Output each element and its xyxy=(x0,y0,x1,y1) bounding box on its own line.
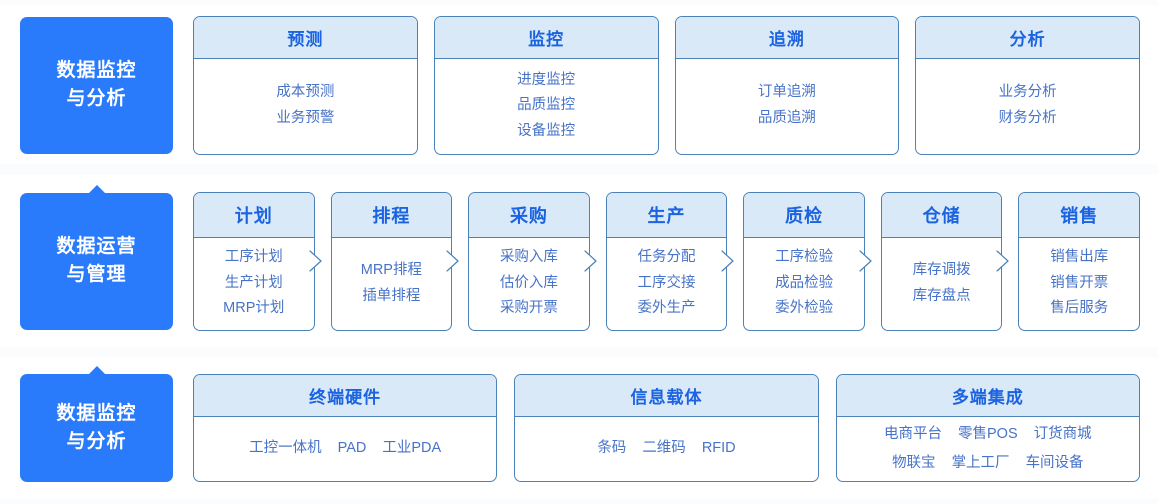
card-wrapper: 生产任务分配工序交接委外生产 xyxy=(606,175,728,347)
band-label-line1: 数据监控 xyxy=(56,400,136,428)
card-wrapper: 采购采购入库估价入库采购开票 xyxy=(468,175,590,347)
module-item[interactable]: 工序计划 xyxy=(225,248,283,268)
module-card-body: 库存调拨库存盘点 xyxy=(882,238,1002,330)
module-card-body: 条码二维码RFID xyxy=(515,417,817,481)
module-card-title: 分析 xyxy=(916,17,1139,59)
notch-triangle-icon xyxy=(88,185,106,194)
module-item-row: MRP计划 xyxy=(223,299,284,319)
band-label-line1: 数据监控 xyxy=(56,57,136,85)
module-item-row: 成品检验 xyxy=(775,274,833,294)
module-item[interactable]: 工控一体机 xyxy=(249,439,322,459)
module-item-row: 估价入库 xyxy=(500,274,558,294)
module-card-title: 采购 xyxy=(469,193,589,238)
module-card[interactable]: 质检工序检验成品检验委外检验 xyxy=(743,192,865,331)
band-label-line1: 数据运营 xyxy=(56,233,136,261)
band-label-line2: 与管理 xyxy=(66,261,126,289)
module-card-title: 多端集成 xyxy=(837,375,1139,417)
module-item[interactable]: 工业PDA xyxy=(382,439,441,459)
module-item-row: 物联宝掌上工厂车间设备 xyxy=(892,454,1084,474)
module-card-title: 预测 xyxy=(194,17,417,59)
band-cards-2: 计划工序计划生产计划MRP计划排程MRP排程插单排程采购采购入库估价入库采购开票… xyxy=(173,175,1158,347)
module-item-row: 品质监控 xyxy=(517,96,575,116)
band-label-line2: 与分析 xyxy=(66,85,126,113)
module-item-row: 品质追溯 xyxy=(758,109,816,129)
module-card[interactable]: 信息载体条码二维码RFID xyxy=(514,374,818,482)
card-wrapper: 排程MRP排程插单排程 xyxy=(331,175,453,347)
band-label-line2: 与分析 xyxy=(66,428,126,456)
notch-triangle-icon xyxy=(88,366,106,375)
card-wrapper: 终端硬件工控一体机PAD工业PDA xyxy=(193,358,497,498)
module-item[interactable]: 电商平台 xyxy=(884,425,942,445)
module-item[interactable]: 设备监控 xyxy=(517,122,575,142)
module-item-row: 任务分配 xyxy=(638,248,696,268)
module-item-row: 采购开票 xyxy=(500,299,558,319)
card-wrapper: 计划工序计划生产计划MRP计划 xyxy=(193,175,315,347)
module-item-row: 库存盘点 xyxy=(913,287,971,307)
module-item-row: 订单追溯 xyxy=(758,83,816,103)
module-card-body: 成本预测业务预警 xyxy=(194,59,417,154)
band-cards-1: 预测成本预测业务预警监控进度监控品质监控设备监控追溯订单追溯品质追溯分析业务分析… xyxy=(173,6,1158,164)
module-card-body: 工序计划生产计划MRP计划 xyxy=(194,238,314,330)
module-card[interactable]: 多端集成电商平台零售POS订货商城物联宝掌上工厂车间设备 xyxy=(836,374,1140,482)
module-item-row: 电商平台零售POS订货商城 xyxy=(884,425,1092,445)
module-card-title: 排程 xyxy=(332,193,452,238)
module-item[interactable]: 工序交接 xyxy=(638,274,696,294)
card-wrapper: 仓储库存调拨库存盘点 xyxy=(881,175,1003,347)
module-item[interactable]: 售后服务 xyxy=(1050,299,1108,319)
module-item-row: 委外生产 xyxy=(638,299,696,319)
module-item[interactable]: 估价入库 xyxy=(500,274,558,294)
band-analysis-top: 数据监控与分析预测成本预测业务预警监控进度监控品质监控设备监控追溯订单追溯品质追… xyxy=(0,6,1158,164)
module-card-body: 采购入库估价入库采购开票 xyxy=(469,238,589,330)
module-item[interactable]: 销售出库 xyxy=(1050,248,1108,268)
module-item-row: 工控一体机PAD工业PDA xyxy=(249,439,441,459)
module-item[interactable]: 委外生产 xyxy=(638,299,696,319)
module-card-title: 信息载体 xyxy=(515,375,817,417)
module-card[interactable]: 仓储库存调拨库存盘点 xyxy=(881,192,1003,331)
module-item[interactable]: 零售POS xyxy=(958,425,1018,445)
module-item-row: 财务分析 xyxy=(999,109,1057,129)
module-card-body: 任务分配工序交接委外生产 xyxy=(607,238,727,330)
module-item-row: 委外检验 xyxy=(775,299,833,319)
card-wrapper: 多端集成电商平台零售POS订货商城物联宝掌上工厂车间设备 xyxy=(836,358,1140,498)
module-item-row: 工序计划 xyxy=(225,248,283,268)
module-card[interactable]: 监控进度监控品质监控设备监控 xyxy=(434,16,659,155)
module-card-title: 监控 xyxy=(435,17,658,59)
card-wrapper: 分析业务分析财务分析 xyxy=(915,6,1140,164)
module-item[interactable]: 成品检验 xyxy=(775,274,833,294)
module-item[interactable]: 插单排程 xyxy=(362,287,420,307)
card-wrapper: 预测成本预测业务预警 xyxy=(193,6,418,164)
module-card-title: 终端硬件 xyxy=(194,375,496,417)
module-item-row: MRP排程 xyxy=(361,261,422,281)
module-card-body: 业务分析财务分析 xyxy=(916,59,1139,154)
module-item[interactable]: 任务分配 xyxy=(638,248,696,268)
module-item[interactable]: 业务预警 xyxy=(276,109,334,129)
module-item-row: 进度监控 xyxy=(517,71,575,91)
module-item[interactable]: 生产计划 xyxy=(225,274,283,294)
band-analysis-bottom: 数据监控与分析终端硬件工控一体机PAD工业PDA信息载体条码二维码RFID多端集… xyxy=(0,358,1158,498)
band-label-block-2[interactable]: 数据运营与管理 xyxy=(20,193,173,330)
module-item-row: 售后服务 xyxy=(1050,299,1108,319)
module-card[interactable]: 生产任务分配工序交接委外生产 xyxy=(606,192,728,331)
module-item-row: 业务预警 xyxy=(276,109,334,129)
module-card-title: 计划 xyxy=(194,193,314,238)
module-item-row: 销售出库 xyxy=(1050,248,1108,268)
module-item[interactable]: 条码 xyxy=(597,439,626,459)
module-item[interactable]: 二维码 xyxy=(642,439,686,459)
card-wrapper: 质检工序检验成品检验委外检验 xyxy=(743,175,865,347)
module-item-row: 工序检验 xyxy=(775,248,833,268)
module-card-title: 生产 xyxy=(607,193,727,238)
module-card[interactable]: 追溯订单追溯品质追溯 xyxy=(675,16,900,155)
module-item[interactable]: 订货商城 xyxy=(1034,425,1092,445)
module-item[interactable]: 财务分析 xyxy=(999,109,1057,129)
module-card-title: 追溯 xyxy=(676,17,899,59)
module-item-row: 成本预测 xyxy=(276,83,334,103)
band-operations: 数据运营与管理计划工序计划生产计划MRP计划排程MRP排程插单排程采购采购入库估… xyxy=(0,175,1158,347)
module-item-row: 工序交接 xyxy=(638,274,696,294)
module-item-row: 条码二维码RFID xyxy=(597,439,735,459)
band-cards-3: 终端硬件工控一体机PAD工业PDA信息载体条码二维码RFID多端集成电商平台零售… xyxy=(173,358,1158,498)
module-item[interactable]: 工序检验 xyxy=(775,248,833,268)
module-card-body: 工控一体机PAD工业PDA xyxy=(194,417,496,481)
module-item[interactable]: 采购开票 xyxy=(500,299,558,319)
band-label-block-1[interactable]: 数据监控与分析 xyxy=(20,17,173,154)
module-item[interactable]: MRP计划 xyxy=(223,299,284,319)
module-card-body: 进度监控品质监控设备监控 xyxy=(435,59,658,154)
module-item[interactable]: 掌上工厂 xyxy=(952,454,1010,474)
card-wrapper: 信息载体条码二维码RFID xyxy=(514,358,818,498)
module-item[interactable]: 进度监控 xyxy=(517,71,575,91)
module-item[interactable]: 采购入库 xyxy=(500,248,558,268)
module-item-row: 设备监控 xyxy=(517,122,575,142)
card-wrapper: 销售销售出库销售开票售后服务 xyxy=(1018,175,1140,347)
module-item[interactable]: PAD xyxy=(338,439,367,459)
module-item[interactable]: MRP排程 xyxy=(361,261,422,281)
module-item-row: 生产计划 xyxy=(225,274,283,294)
module-item[interactable]: 成本预测 xyxy=(276,83,334,103)
module-card[interactable]: 分析业务分析财务分析 xyxy=(915,16,1140,155)
module-card-body: 电商平台零售POS订货商城物联宝掌上工厂车间设备 xyxy=(837,417,1139,481)
module-card-title: 销售 xyxy=(1019,193,1139,238)
card-wrapper: 追溯订单追溯品质追溯 xyxy=(675,6,900,164)
module-card-body: 销售出库销售开票售后服务 xyxy=(1019,238,1139,330)
module-item-row: 库存调拨 xyxy=(913,261,971,281)
module-item-row: 插单排程 xyxy=(362,287,420,307)
module-item[interactable]: 库存调拨 xyxy=(913,261,971,281)
module-item[interactable]: 业务分析 xyxy=(999,83,1057,103)
module-card[interactable]: 终端硬件工控一体机PAD工业PDA xyxy=(193,374,497,482)
module-item[interactable]: 销售开票 xyxy=(1050,274,1108,294)
module-item[interactable]: 委外检验 xyxy=(775,299,833,319)
module-item[interactable]: 车间设备 xyxy=(1026,454,1084,474)
module-card-body: 工序检验成品检验委外检验 xyxy=(744,238,864,330)
module-card[interactable]: 预测成本预测业务预警 xyxy=(193,16,418,155)
module-card[interactable]: 排程MRP排程插单排程 xyxy=(331,192,453,331)
module-card-body: 订单追溯品质追溯 xyxy=(676,59,899,154)
module-card-title: 质检 xyxy=(744,193,864,238)
module-item[interactable]: 库存盘点 xyxy=(913,287,971,307)
module-card[interactable]: 销售销售出库销售开票售后服务 xyxy=(1018,192,1140,331)
card-wrapper: 监控进度监控品质监控设备监控 xyxy=(434,6,659,164)
module-item-row: 采购入库 xyxy=(500,248,558,268)
module-item[interactable]: 品质监控 xyxy=(517,96,575,116)
module-item[interactable]: 订单追溯 xyxy=(758,83,816,103)
module-card[interactable]: 计划工序计划生产计划MRP计划 xyxy=(193,192,315,331)
module-item[interactable]: 品质追溯 xyxy=(758,109,816,129)
module-item[interactable]: RFID xyxy=(702,439,736,459)
module-card[interactable]: 采购采购入库估价入库采购开票 xyxy=(468,192,590,331)
module-item-row: 业务分析 xyxy=(999,83,1057,103)
module-card-body: MRP排程插单排程 xyxy=(332,238,452,330)
band-label-block-3[interactable]: 数据监控与分析 xyxy=(20,374,173,482)
module-item[interactable]: 物联宝 xyxy=(892,454,936,474)
module-card-title: 仓储 xyxy=(882,193,1002,238)
diagram-root: 数据监控与分析预测成本预测业务预警监控进度监控品质监控设备监控追溯订单追溯品质追… xyxy=(0,0,1158,504)
module-item-row: 销售开票 xyxy=(1050,274,1108,294)
